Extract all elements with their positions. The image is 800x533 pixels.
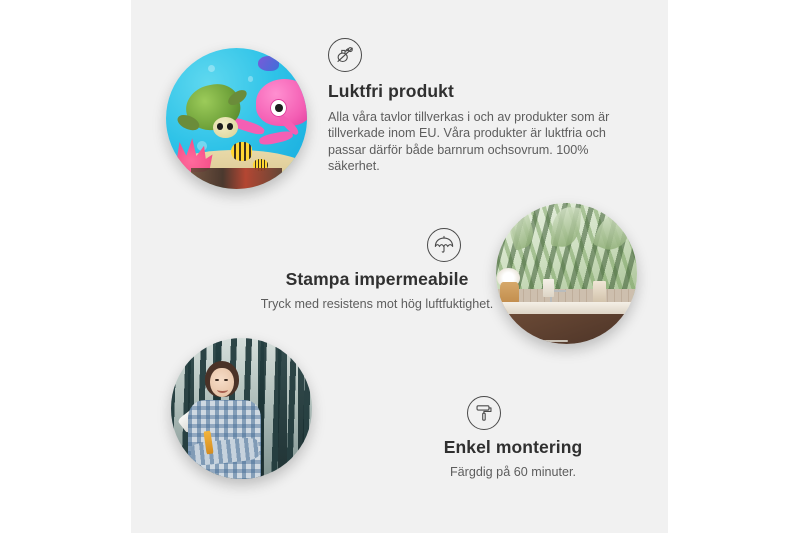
umbrella-icon [427, 228, 461, 262]
smile [217, 387, 228, 393]
tree-trunk [298, 338, 304, 479]
cabinet-handle [634, 339, 636, 343]
feature-description: Färgdig på 60 minuter. [383, 464, 643, 480]
product-image-underwater-scene[interactable] [166, 48, 307, 189]
feature-description: Tryck med resistens mot hög luftfuktighe… [217, 296, 537, 312]
blue-fish-icon [258, 56, 279, 70]
tree-trunk [278, 338, 287, 479]
feature-title: Luktfri produkt [328, 81, 633, 102]
feature-icon-wrap [217, 228, 537, 262]
feature-icon-wrap [383, 396, 643, 430]
eye [224, 379, 227, 381]
leaf-icon [506, 212, 538, 250]
product-feature-page: Luktfri produkt Alla våra tavlor tillver… [0, 0, 800, 533]
towel [543, 279, 554, 297]
product-image-bathroom-wallpaper[interactable] [496, 203, 637, 344]
leaf-icon [591, 208, 634, 255]
product-image-painter-forest[interactable] [171, 338, 312, 479]
vanity-cabinet [507, 314, 637, 344]
feature-title: Stampa impermeabile [217, 269, 537, 290]
feature-description: Alla våra tavlor tillverkas i och av pro… [328, 109, 633, 175]
content-panel: Luktfri produkt Alla våra tavlor tillver… [131, 0, 668, 533]
feature-waterproof-print: Stampa impermeabile Tryck med resistens … [217, 228, 537, 312]
turtle-head [213, 117, 238, 138]
countertop [496, 302, 637, 315]
eye [215, 379, 218, 381]
paint-roller-icon [467, 396, 501, 430]
yellow-fish-icon [231, 142, 252, 160]
feature-odor-free: Luktfri produkt Alla våra tavlor tillver… [328, 38, 633, 175]
feature-title: Enkel montering [383, 437, 643, 458]
leaf-icon [551, 206, 582, 248]
drawer-handle [527, 340, 568, 342]
no-odor-spray-bottle-icon [328, 38, 362, 72]
cabinet-handle [621, 339, 623, 343]
scene-foreground [191, 168, 281, 189]
feature-easy-mounting: Enkel montering Färgdig på 60 minuter. [383, 396, 643, 480]
